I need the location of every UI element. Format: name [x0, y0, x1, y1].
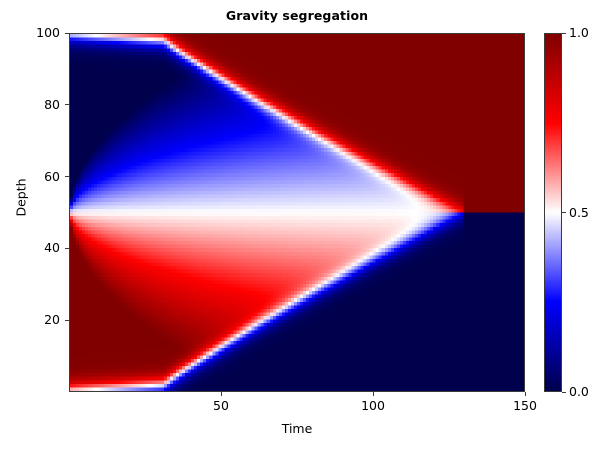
- colorbar-gradient: [545, 34, 561, 391]
- x-tick-label: 150: [495, 398, 555, 413]
- y-tick-label: 40: [6, 240, 60, 255]
- colorbar-tick-label: 0.0: [569, 384, 589, 399]
- y-tick-label: 80: [6, 97, 60, 112]
- heatmap-axes: [69, 33, 525, 392]
- colorbar: [544, 33, 562, 392]
- colorbar-tick-label: 0.5: [569, 205, 589, 220]
- y-tick-mark: [65, 320, 69, 321]
- colorbar-tick-mark: [562, 33, 566, 34]
- y-tick-mark: [65, 176, 69, 177]
- heatmap-image: [70, 34, 524, 391]
- page-title: Gravity segregation: [69, 8, 525, 23]
- y-tick-mark: [65, 33, 69, 34]
- y-tick-mark: [65, 104, 69, 105]
- x-tick-mark: [373, 392, 374, 396]
- x-tick-mark: [221, 392, 222, 396]
- colorbar-tick-label: 1.0: [569, 25, 589, 40]
- y-axis-label: Depth: [14, 158, 29, 238]
- y-tick-mark: [65, 248, 69, 249]
- colorbar-tick-mark: [562, 392, 566, 393]
- y-tick-label: 100: [6, 25, 60, 40]
- colorbar-tick-mark: [562, 212, 566, 213]
- x-tick-mark: [525, 392, 526, 396]
- y-tick-label: 20: [6, 312, 60, 327]
- figure-gravity-segregation: Gravity segregation 50100150 20406080100…: [0, 0, 600, 450]
- x-tick-label: 50: [191, 398, 251, 413]
- x-tick-label: 100: [343, 398, 403, 413]
- x-axis-label: Time: [69, 421, 525, 436]
